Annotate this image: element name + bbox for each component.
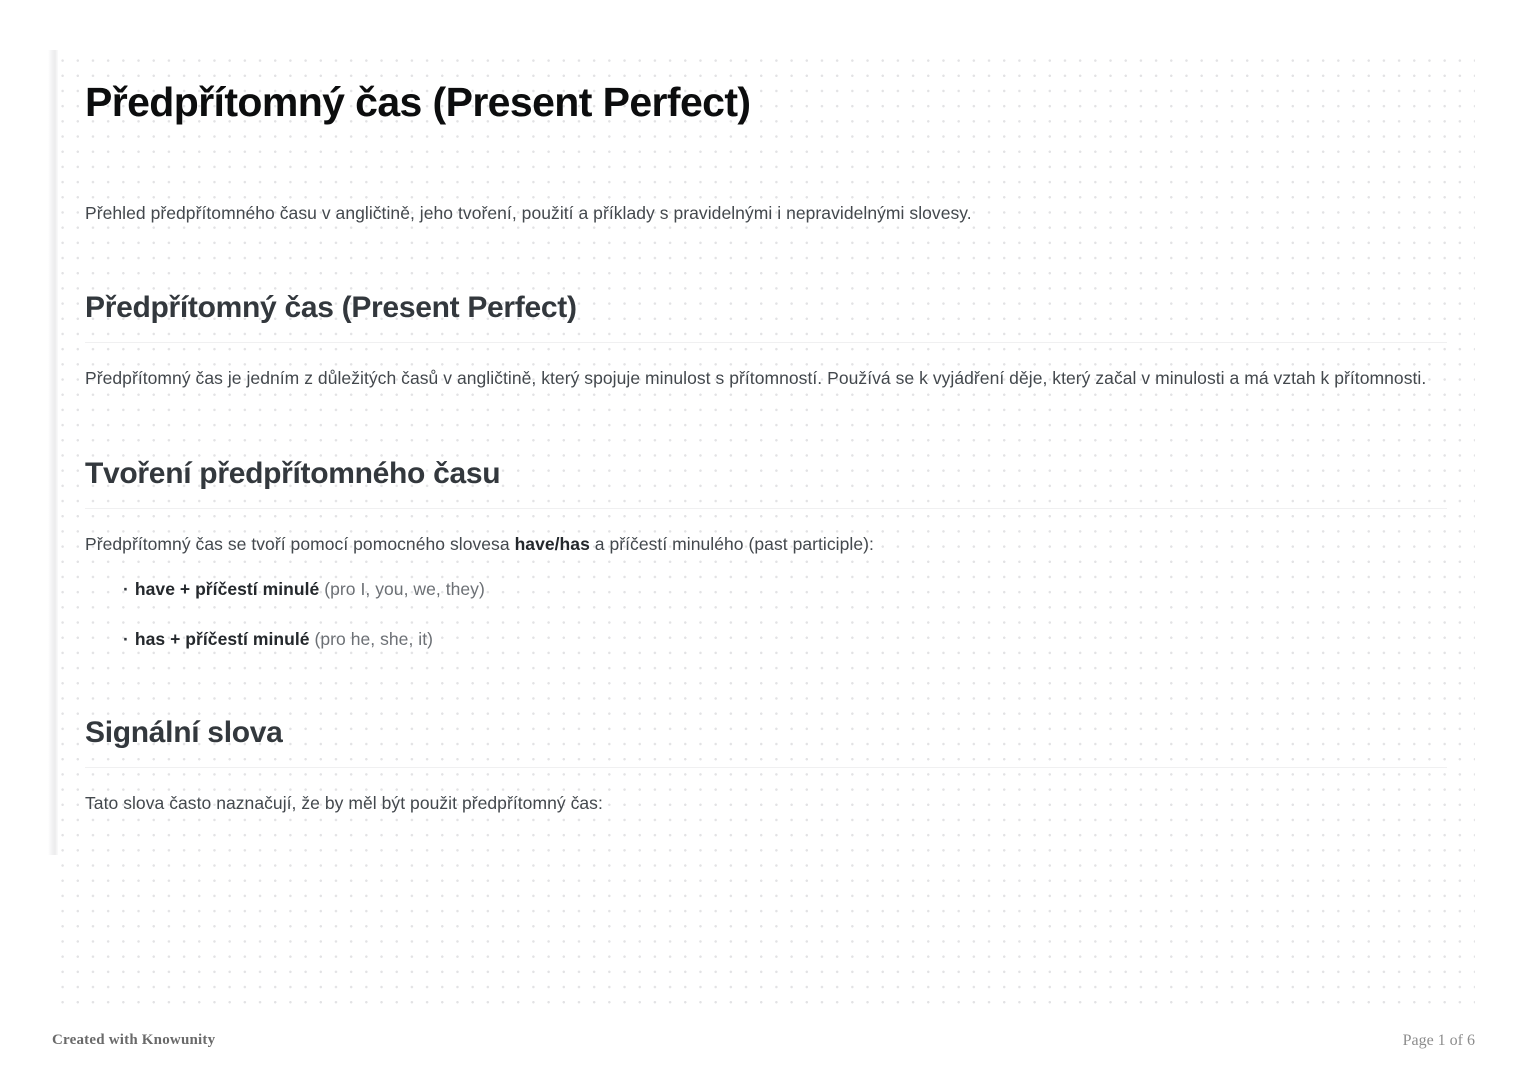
page-title: Předpřítomný čas (Present Perfect) (85, 78, 1447, 126)
formation-text-suffix: a příčestí minulého (past participle): (590, 534, 874, 554)
list-item: ·have + příčestí minulé (pro I, you, we,… (123, 575, 1447, 603)
bullet-marker-icon: · (123, 579, 129, 599)
list-item-rest: (pro I, you, we, they) (319, 579, 485, 599)
list-item-rest: (pro he, she, it) (310, 629, 433, 649)
left-margin-rail (48, 50, 58, 855)
formation-bullet-list: ·have + příčestí minulé (pro I, you, we,… (85, 575, 1447, 653)
section-heading-present-perfect: Předpřítomný čas (Present Perfect) (85, 290, 1447, 343)
footer-page-number: Page 1 of 6 (1403, 1032, 1475, 1050)
formation-text-prefix: Předpřítomný čas se tvoří pomocí pomocné… (85, 534, 515, 554)
page-footer: Created with Knowunity Page 1 of 6 (0, 1018, 1527, 1080)
section-paragraph-formation: Předpřítomný čas se tvoří pomocí pomocné… (85, 529, 1447, 561)
section-paragraph-present-perfect: Předpřítomný čas je jedním z důležitých … (85, 363, 1447, 395)
bullet-marker-icon: · (123, 629, 129, 649)
document-content: Předpřítomný čas (Present Perfect) Přehl… (85, 50, 1447, 820)
section-paragraph-signal-words: Tato slova často naznačují, že by měl bý… (85, 788, 1447, 820)
formation-text-emphasis: have/has (515, 534, 590, 554)
section-heading-signal-words: Signální slova (85, 715, 1447, 768)
document-subtitle: Přehled předpřítomného času v angličtině… (85, 200, 1447, 227)
footer-credit: Created with Knowunity (52, 1032, 215, 1049)
list-item: ·has + příčestí minulé (pro he, she, it) (123, 625, 1447, 653)
list-item-emphasis: has + příčestí minulé (135, 629, 310, 649)
list-item-emphasis: have + příčestí minulé (135, 579, 319, 599)
document-page: Předpřítomný čas (Present Perfect) Přehl… (0, 0, 1527, 1080)
section-heading-formation: Tvoření předpřítomného času (85, 456, 1447, 509)
